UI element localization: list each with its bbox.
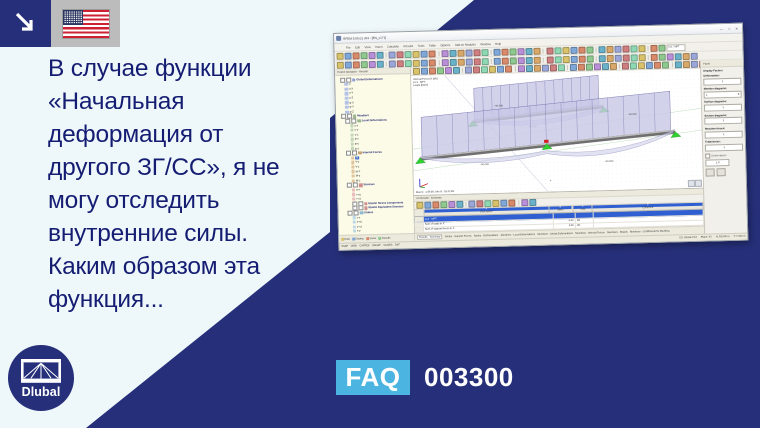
toolbar-icon[interactable] [469,200,476,207]
toolbar-icon[interactable] [578,55,585,62]
toolbar-icon[interactable] [368,51,375,58]
navigator-tab-label: Data [344,237,349,240]
display-factor-section: Member diagrams:1⇅ [704,87,742,99]
window-body: Project Navigator - Results -Global Defo… [335,60,747,243]
status-toggle[interactable]: GRID [351,245,357,248]
display-factor-input[interactable]: 1 [705,117,743,125]
reset-button[interactable] [717,168,726,176]
tree-node-icon [344,92,348,95]
toolbar-icon[interactable] [667,53,674,60]
toolbar-icon[interactable] [558,64,565,71]
results-tab[interactable]: Members - Strains [607,230,627,234]
cell-unit: kN [576,223,594,228]
toolbar-separator [672,62,673,67]
grid-col-index [414,210,424,217]
navigator-tab[interactable]: Views [366,237,376,240]
status-bar-toggles[interactable]: SNAPGRIDCARTESOSNAPGLINESDXF [341,244,400,248]
tree-item-label: φ-X [349,101,354,104]
tree-expander-icon[interactable]: - [347,183,352,188]
tree-node-icon [352,230,356,233]
tree-node-icon [351,161,355,164]
results-tab[interactable]: Nodes - Support Forces [445,234,472,238]
toolbar-icon[interactable] [691,52,698,59]
tree-item-label: u-Y [349,92,353,95]
tree-item-label: Stresses [363,183,374,186]
menu-item-calculate[interactable]: Calculate [387,44,399,48]
toolbar-icon[interactable] [562,47,569,54]
toolbar-separator [438,60,439,65]
navigator-tab-label: Display [356,237,364,240]
viewport-cursor: ⌖ [550,178,552,182]
toolbar-icon[interactable] [489,66,496,73]
maximize-button[interactable]: □ [728,26,730,30]
toolbar-icon[interactable] [477,200,484,207]
toolbar-icon[interactable] [570,46,577,53]
navigator-header-label: Project Navigator - Results [337,70,368,74]
display-factor-input[interactable]: 1 [704,77,742,85]
tree-item-label: φ-z [355,147,359,150]
toolbar-icon[interactable] [578,64,585,71]
faq-card: В случае функции «Начальная деформация о… [0,0,760,428]
language-flag-badge [51,0,120,47]
toolbar-icon[interactable] [397,51,404,58]
tree-node-icon [359,183,363,186]
toolbar-icon[interactable] [465,49,472,56]
tree-node-icon [351,156,355,159]
tree-expander-icon[interactable]: - [345,119,350,124]
toolbar-icon[interactable] [529,199,536,206]
tree-checkbox[interactable] [352,151,357,156]
toolbar-icon[interactable] [337,61,344,68]
menu-item-help[interactable]: Help [495,41,501,45]
display-factor-section: Reaction forces:1 [705,126,743,138]
tree-checkbox[interactable] [353,210,358,215]
status-info-item: Plane: XY [701,236,712,239]
toolbar-icon[interactable] [445,67,452,74]
tree-expander-icon[interactable]: - [340,77,345,82]
status-info-item: N: 53.000 m [716,235,730,238]
toolbar-icon[interactable] [598,46,605,53]
toolbar-icon[interactable] [638,62,645,69]
deformations-checkbox-row[interactable]: Deformations [705,153,743,159]
toolbar-icon[interactable] [501,200,508,207]
toolbar-icon[interactable] [602,63,609,70]
toolbar-icon[interactable] [607,54,614,61]
navigator-tab-icon [352,237,355,240]
toolbar-icon[interactable] [361,61,368,68]
toolbar-icon[interactable] [413,68,420,75]
menu-item-window[interactable]: Window [480,42,490,46]
display-factors-title: Display Factors [703,69,741,73]
toolbar-icon[interactable] [659,44,666,51]
toolbar-icon[interactable] [554,47,561,54]
tree-item-label: u [349,83,351,86]
tree-expander-icon[interactable]: - [347,210,352,215]
cell-unit: kN [576,218,594,223]
toolbar-icon[interactable] [615,54,622,61]
results-tab[interactable]: Members - Coefficients for Buckling [630,229,669,233]
results-tab[interactable]: Results - Summary [417,234,442,240]
tree-item-label: φ-Y [349,106,354,109]
toolbar-icon[interactable] [606,45,613,52]
results-tab[interactable]: Members - Local Deformations [501,233,535,237]
status-toggle[interactable]: GLINES [383,244,392,247]
deformations-value-input[interactable]: 1.0 [706,159,730,167]
toolbar-separator [543,57,544,62]
toolbar-icon[interactable] [413,50,420,57]
toolbar-icon[interactable] [510,48,517,55]
toolbar-icon[interactable] [440,201,447,208]
toolbar-icon[interactable] [429,50,436,57]
faq-badge: FAQ [336,360,410,395]
toolbar-icon[interactable] [662,61,669,68]
toolbar-icon[interactable] [554,56,561,63]
toolbar-icon[interactable] [421,68,428,75]
grid-col-comment-label: Comment [642,207,653,210]
toolbar-icon[interactable] [360,52,367,59]
toolbar-icon[interactable] [586,55,593,62]
status-bar-info: CS: Global XYZPlane: XYN: 53.000 mT: 7.0… [679,235,745,240]
tree-item-label: φ-y [355,142,359,145]
toolbar-icon[interactable] [377,60,384,67]
toolbar-icon[interactable] [485,200,492,207]
toolbar-icon[interactable] [353,61,360,68]
navigator-tab-label: Views [370,237,377,240]
navigator-tab[interactable]: Data [341,237,350,240]
menu-item-addons[interactable]: Add-on Modules [455,42,476,47]
toolbar-icon[interactable] [518,57,525,64]
tree-node-icon [360,211,364,214]
toolbar-icon[interactable] [441,50,448,57]
tree-node-icon [351,170,355,173]
navigator-tree[interactable]: -Global Deformationsuu-Xu-Yu-Zφ-Xφ-Yφ-Z-… [335,74,414,235]
beam-diagram-graphic: -50.000 [411,69,703,195]
tree-expander-icon[interactable]: - [346,151,351,156]
display-factor-input[interactable]: 1 [705,130,743,138]
toolbar-icon[interactable] [534,65,541,72]
toolbar-icon[interactable] [413,59,420,66]
status-toggle[interactable]: CARTES [359,244,369,247]
tree-node-icon [352,220,356,223]
display-factor-section: Section diagrams:1 [704,113,742,125]
toolbar-icon[interactable] [638,45,645,52]
svg-text:-50.000: -50.000 [628,113,637,116]
tree-checkbox[interactable] [351,118,356,123]
results-table-panel: 4.0 Results - Summary A Description B Va… [414,187,704,240]
toolbar-icon[interactable] [449,58,456,65]
menu-item-options[interactable]: Options [440,43,450,47]
app-icon [336,36,341,41]
display-factor-input[interactable]: 1⇅ [704,91,742,99]
toolbar-icon[interactable] [449,49,456,56]
tree-node-icon [351,165,355,168]
dlubal-logo-text: Dlubal [8,385,74,399]
results-tab[interactable]: Members - Internal Forces [575,231,604,235]
cell-unit [576,213,594,218]
display-factor-sections[interactable]: Deformation:1Member diagrams:1⇅Surface d… [703,74,743,152]
toolbar-icon[interactable] [599,55,606,62]
toolbar-icon[interactable] [441,59,448,66]
toolbar-icon[interactable] [473,49,480,56]
toolbar-icon[interactable] [570,64,577,71]
display-factor-input[interactable]: 1 [704,104,742,112]
toolbar-icon[interactable] [546,47,553,54]
menu-item-results[interactable]: Results [403,43,413,47]
toolbar-icon[interactable] [683,61,690,68]
toolbar-icon[interactable] [638,54,645,61]
toolbar-icon[interactable] [424,202,431,209]
toolbar-icon[interactable] [578,46,585,53]
toolbar-icon[interactable] [651,44,658,51]
tree-node-icon [345,106,349,109]
tree-node-icon [344,83,348,86]
toolbar-icon[interactable] [562,56,569,63]
toolbar-icon[interactable] [432,201,439,208]
status-toggle[interactable]: OSNAP [372,244,381,247]
toolbar-icon[interactable] [550,64,557,71]
close-button[interactable]: ✕ [735,26,738,30]
grid-col-unit: C Unit [574,206,593,213]
tree-node-icon [358,151,362,154]
tree-item-label: Local Deformations [362,119,387,123]
toolbar-icon[interactable] [546,56,553,63]
toolbar-icon[interactable] [389,51,396,58]
toolbar-icon[interactable] [421,50,428,57]
svg-text:-50.000: -50.000 [494,104,503,107]
toolbar-icon[interactable] [457,58,464,65]
toolbar-separator [595,56,596,61]
faq-number: 003300 [424,360,514,395]
toolbar-icon[interactable] [521,199,528,206]
toolbar-icon[interactable] [509,199,516,206]
menu-item-table[interactable]: Table [429,43,436,47]
tree-item-label: u-z [355,133,359,136]
tree-node-icon [351,174,355,177]
toolbar-separator [648,55,649,60]
toolbar-icon[interactable] [389,60,396,67]
toolbar-icon[interactable] [457,49,464,56]
tree-item-label: Internal Forces [363,151,382,154]
project-navigator[interactable]: Project Navigator - Results -Global Defo… [335,68,415,242]
status-toggle[interactable]: SNAP [341,245,348,248]
grid-col-unit-label: Unit [581,209,586,212]
toolbar-icon[interactable] [534,56,541,63]
axis-triad-icon [418,176,430,188]
toolbar-separator [543,48,544,53]
toolbar-icon[interactable] [502,48,509,55]
spinner-icon[interactable]: ⇅ [738,93,740,96]
menu-item-edit[interactable]: Edit [355,45,360,49]
navigator-tab-icon [378,237,381,240]
tree-item-label: N [355,156,359,159]
toolbar-icon[interactable] [481,49,488,56]
rfem-window: RFEM 5.05.01 x64 - [EN_c171] — □ ✕ File … [333,23,748,251]
toolbar-separator [567,65,568,70]
toolbar-icon[interactable] [631,54,638,61]
toolbar-icon[interactable] [405,60,412,67]
toolbar-icon[interactable] [397,60,404,67]
display-panel[interactable]: Panel Display Factors Deformation:1Membe… [700,60,747,234]
toolbar-icon[interactable] [376,51,383,58]
toolbar-icon[interactable] [614,45,621,52]
tree-node-icon [350,138,354,141]
toolbar-icon[interactable] [622,63,629,70]
toolbar-icon[interactable] [429,67,436,74]
viewport-button-2[interactable] [695,180,702,187]
dlubal-truss-icon [21,359,61,384]
load-case-select[interactable]: LC1 - MPT [667,44,686,51]
toolbar-icon[interactable] [510,57,517,64]
toolbar-icon[interactable] [570,55,577,62]
menu-item-insert[interactable]: Insert [375,44,382,48]
toolbar-separator [595,47,596,52]
toolbar-icon[interactable] [453,67,460,74]
toolbar-icon[interactable] [497,66,504,73]
toolbar-icon[interactable] [630,62,637,69]
menu-item-view[interactable]: View [364,45,370,49]
toolbar-icon[interactable] [345,61,352,68]
tree-item-label: γ-xz [357,225,362,228]
svg-text:-50.000: -50.000 [480,163,489,166]
toolbar-separator [386,61,387,66]
toolbar-icon[interactable] [505,65,512,72]
toolbar-icon[interactable] [542,65,549,72]
results-tab[interactable]: Members - Global Deformations [537,232,573,236]
navigator-tab[interactable]: Results [378,236,390,239]
toolbar-icon[interactable] [437,67,444,74]
question-text: В случае функции «Начальная деформация о… [48,52,308,316]
toolbar-icon[interactable] [659,53,666,60]
tree-item-label: Strains [364,211,373,214]
menu-item-tools[interactable]: Tools [418,43,425,47]
tree-checkbox[interactable] [346,77,351,82]
tree-item-label: M-y [356,175,361,178]
tree-node-icon [364,206,368,209]
display-panel-buttons[interactable] [706,168,744,177]
model-viewport[interactable]: Internal Forces N [kN] LC1 - MPT Loads [… [411,69,703,195]
toolbar-icon[interactable] [630,45,637,52]
toolbar-icon[interactable] [344,52,351,59]
status-toggle[interactable]: DXF [395,244,400,247]
tree-item-label: φ-x [355,138,359,141]
tree-checkbox[interactable] [358,206,363,211]
faq-badge-label: FAQ [346,362,401,393]
tree-item-label: V-z [355,165,359,168]
tree-node-icon [351,188,355,191]
toolbar-icon[interactable] [421,59,428,66]
deformations-checkbox-label: Deformations [711,154,726,157]
toolbar-icon[interactable] [429,59,436,66]
toolbar-icon[interactable] [494,48,501,55]
toolbar-separator [386,52,387,57]
display-factor-section: Deformation:1 [703,74,741,86]
toolbar-icon[interactable] [675,61,682,68]
row-index [415,228,424,232]
toolbar-icon[interactable] [448,201,455,208]
toolbar-icon[interactable] [526,65,533,72]
minimize-button[interactable]: — [720,27,723,31]
tree-node-icon [350,124,354,127]
toolbar-icon[interactable] [465,66,472,73]
display-factor-section: Surface diagrams:1 [704,100,742,112]
display-panel-body[interactable]: Display Factors Deformation:1Member diag… [701,67,747,234]
toolbar-icon[interactable] [473,58,480,65]
toolbar-icon[interactable] [534,47,541,54]
toolbar-icon[interactable] [416,202,423,209]
toolbar-separator [518,200,519,205]
toolbar-separator [514,66,515,71]
toolbar-icon[interactable] [518,48,525,55]
deformations-checkbox[interactable] [705,154,710,159]
row-index [415,222,424,226]
toolbar-icon[interactable] [654,62,661,69]
toolbar-icon[interactable] [651,53,658,60]
toolbar-icon[interactable] [594,63,601,70]
toolbar-icon[interactable] [610,63,617,70]
toolbar-icon[interactable] [352,52,359,59]
tree-item-label: ε-x [357,216,361,219]
menu-item-file[interactable]: File [346,45,351,49]
toolbar-icon[interactable] [518,65,525,72]
grid-col-value-label: Value [557,209,563,212]
navigator-tab-icon [366,237,369,240]
navigator-tab[interactable]: Display [352,237,364,240]
toolbar-icon[interactable] [526,47,533,54]
tree-item-label: u-Z [349,97,353,100]
tree-item-label: σ-x [356,188,360,191]
toolbar-icon[interactable] [691,61,698,68]
toolbar-separator [619,64,620,69]
display-factor-input[interactable]: 1 [705,143,743,151]
toolbar-icon[interactable] [481,58,488,65]
tree-node-icon [344,87,348,90]
grid-col-value: B Value [549,206,574,213]
toolbar-icon[interactable] [586,46,593,53]
toolbar-icon[interactable] [646,62,653,69]
toolbar-icon[interactable] [336,52,343,59]
window-title: RFEM 5.05.01 x64 - [EN_c171] [343,35,386,40]
tree-node-icon [364,202,368,205]
toolbar-icon[interactable] [494,57,501,64]
status-info-item: CS: Global XYZ [679,236,697,239]
tree-node-icon [352,216,356,219]
toolbar-icon[interactable] [465,58,472,65]
toolbar-icon[interactable] [405,51,412,58]
toolbar-icon[interactable] [586,63,593,70]
navigator-tab-icon [341,238,344,241]
toolbar-icon[interactable] [473,66,480,73]
toolbar-icon[interactable] [493,200,500,207]
tree-node-icon [350,133,354,136]
toolbar-icon[interactable] [369,60,376,67]
center-column: Internal Forces N [kN] LC1 - MPT Loads [… [411,61,705,241]
results-tab[interactable]: Nodes - Deformations [474,234,498,238]
toolbar-icon[interactable] [623,54,630,61]
toolbar-icon[interactable] [622,45,629,52]
toolbar-separator [438,51,439,56]
tree-item-label: τ-xy [356,193,361,196]
toolbar-separator [490,49,491,54]
tree-checkbox[interactable] [353,183,358,188]
arrow-badge [0,0,51,47]
toolbar-icon[interactable] [675,53,682,60]
apply-button[interactable] [706,169,715,177]
toolbar-icon[interactable] [683,52,690,59]
toolbar-icon[interactable] [456,201,463,208]
toolbar-icon[interactable] [502,57,509,64]
toolbar-icon[interactable] [481,66,488,73]
toolbar-icon[interactable] [526,56,533,63]
